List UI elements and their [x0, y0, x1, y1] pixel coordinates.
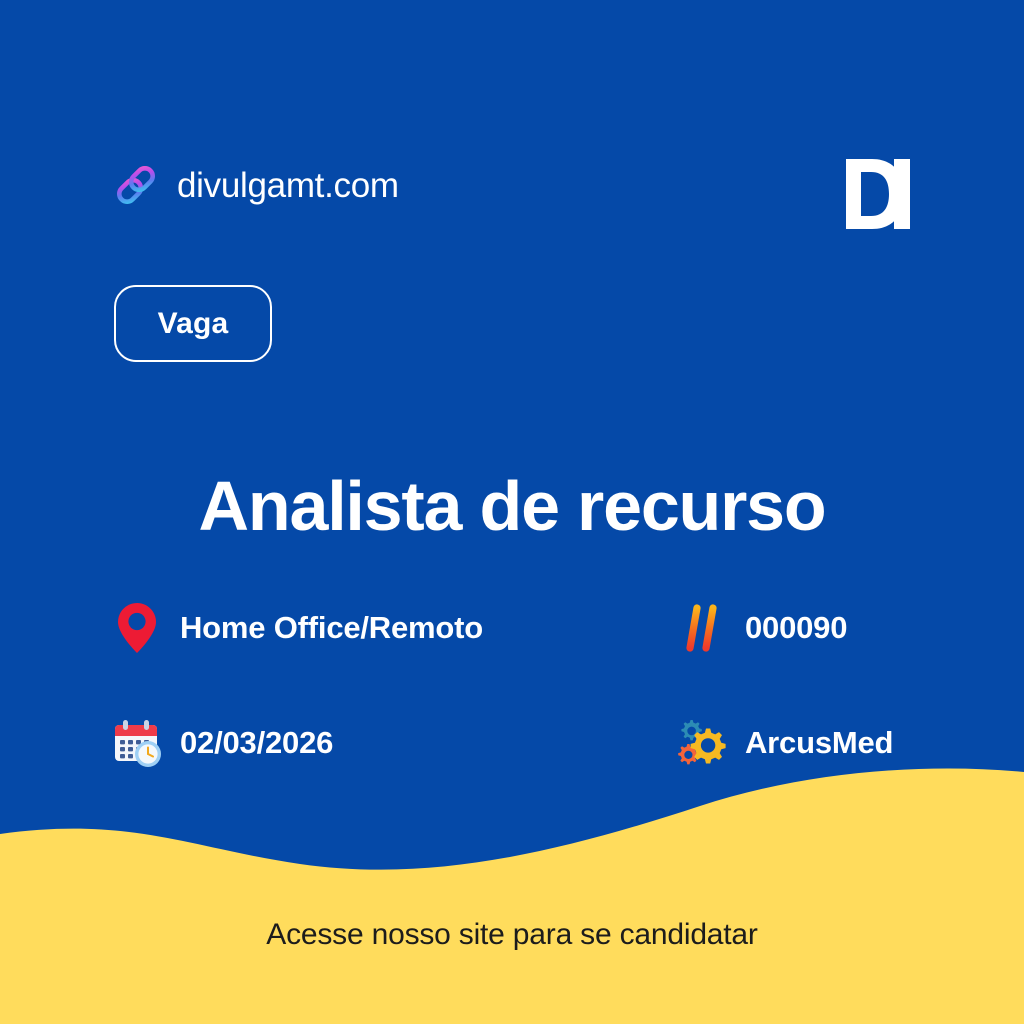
- meta-item-job-code: 000090: [670, 601, 934, 655]
- meta-item-company: ArcusMed: [670, 716, 934, 770]
- status-badge: Vaga: [114, 285, 272, 362]
- meta-date-label: 02/03/2026: [180, 725, 333, 761]
- link-chain-icon: [113, 162, 159, 208]
- calendar-clock-icon: [110, 716, 164, 770]
- meta-item-date: 02/03/2026: [110, 716, 670, 770]
- di-monogram-icon: [842, 155, 914, 233]
- hash-icon: [675, 601, 729, 655]
- status-badge-label: Vaga: [158, 307, 229, 341]
- meta-item-location: Home Office/Remoto: [110, 601, 670, 655]
- brand-name: divulgamt.com: [177, 168, 399, 203]
- gears-icon: [675, 716, 729, 770]
- meta-company-label: ArcusMed: [745, 725, 893, 761]
- job-meta-grid: Home Office/Remoto: [110, 570, 934, 800]
- meta-location-label: Home Office/Remoto: [180, 610, 483, 646]
- job-title: Analista de recurso: [0, 469, 1024, 545]
- job-posting-card: divulgamt.com Vaga Analista de recurso H…: [0, 0, 1024, 1024]
- wave-divider: [0, 764, 1024, 1024]
- brand-logo[interactable]: divulgamt.com: [113, 162, 399, 208]
- footer-cta-text: Acesse nosso site para se candidatar: [0, 918, 1024, 952]
- meta-job-code-label: 000090: [745, 610, 847, 646]
- location-pin-icon: [110, 601, 164, 655]
